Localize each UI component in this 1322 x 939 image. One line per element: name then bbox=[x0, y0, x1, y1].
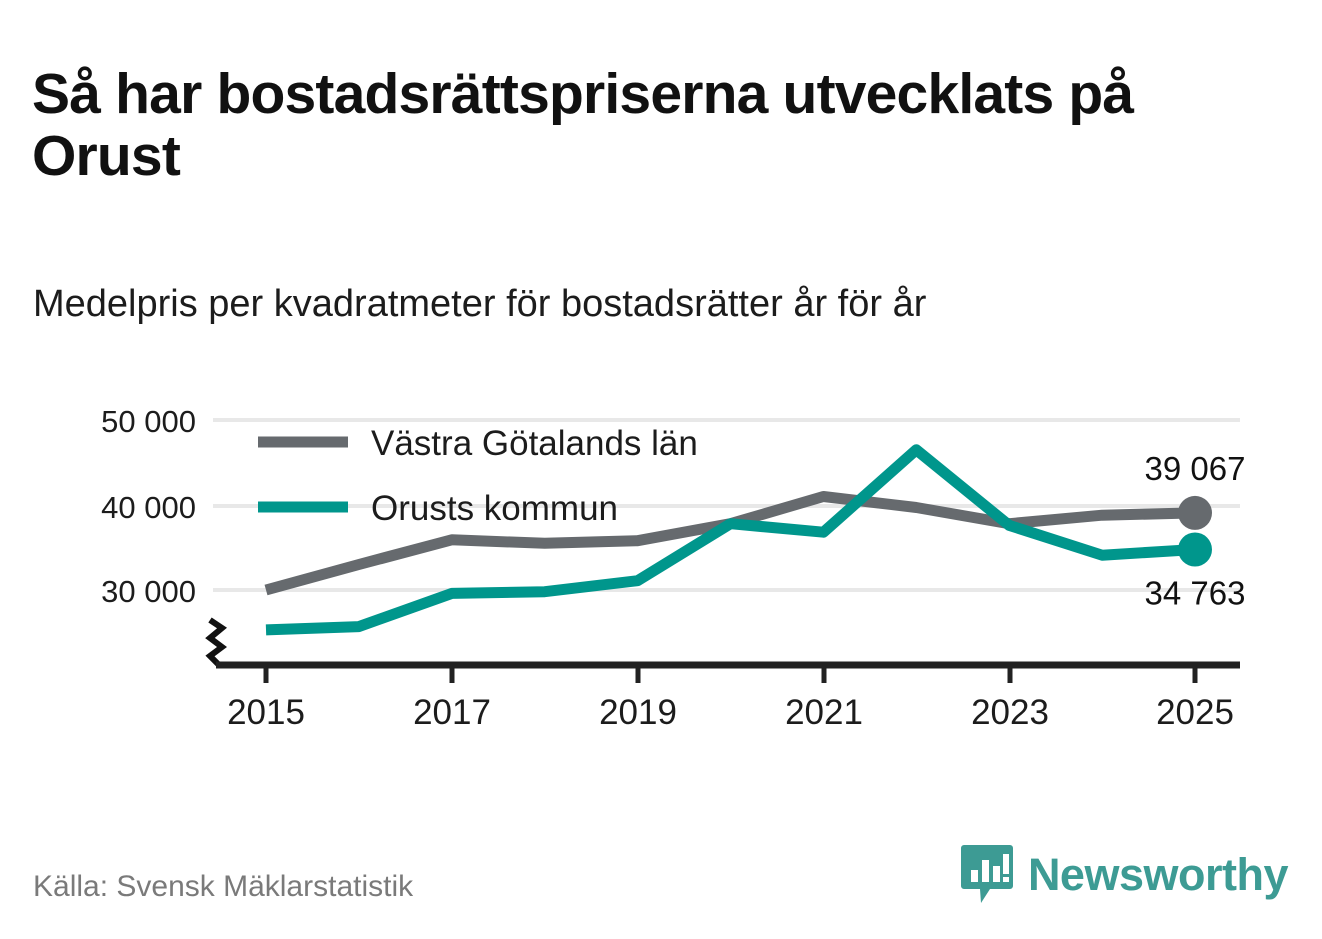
axis-break-zigzag bbox=[210, 620, 222, 664]
legend-label-orusts-kommun: Orusts kommun bbox=[371, 489, 618, 528]
legend-label-vastra-gotalands-lan: Västra Götalands län bbox=[371, 424, 698, 463]
source-note: Källa: Svensk Mäklarstatistik bbox=[33, 870, 413, 904]
chart-subtitle: Medelpris per kvadratmeter för bostadsrä… bbox=[33, 283, 1283, 327]
end-value-label-orusts-kommun: 34 763 bbox=[1145, 575, 1246, 612]
bar-4 bbox=[1003, 854, 1009, 874]
chart-page: Så har bostadsrättspriserna utvecklats p… bbox=[0, 0, 1322, 939]
line-chart: 50 000 40 000 30 000 2015 bbox=[0, 380, 1322, 740]
series-endpoint-marker-vastra-gotalands-lan bbox=[1178, 496, 1212, 530]
chart-legend: Västra Götalands län Orusts kommun bbox=[258, 424, 698, 528]
x-tick-label-2017: 2017 bbox=[413, 693, 491, 732]
bar-1 bbox=[971, 870, 978, 882]
y-tick-label-30000: 30 000 bbox=[101, 574, 196, 609]
bar-2 bbox=[982, 860, 989, 882]
axis-break-icon bbox=[210, 620, 222, 664]
series-line-orusts-kommun bbox=[266, 450, 1195, 630]
y-tick-label-50000: 50 000 bbox=[101, 404, 196, 439]
page-title: Så har bostadsrättspriserna utvecklats p… bbox=[32, 64, 1282, 187]
x-tick-label-2019: 2019 bbox=[599, 693, 677, 732]
brand-name: Newsworthy bbox=[1028, 852, 1288, 897]
bar-chart-speech-bubble-icon bbox=[960, 843, 1014, 905]
x-tick-label-2015: 2015 bbox=[227, 693, 305, 732]
series-endpoint-marker-orusts-kommun bbox=[1178, 533, 1212, 567]
x-axis-labels: 2015 2017 2019 2021 2023 2025 bbox=[227, 693, 1234, 732]
series-lines bbox=[266, 450, 1212, 630]
chart-svg: 50 000 40 000 30 000 2015 bbox=[0, 380, 1322, 740]
bar-3 bbox=[993, 866, 1000, 882]
x-tick-label-2021: 2021 bbox=[785, 693, 863, 732]
x-tick-label-2025: 2025 bbox=[1156, 693, 1234, 732]
newsworthy-logo: Newsworthy bbox=[960, 843, 1288, 905]
y-axis-labels: 50 000 40 000 30 000 bbox=[101, 404, 196, 609]
x-tick-label-2023: 2023 bbox=[971, 693, 1049, 732]
y-tick-label-40000: 40 000 bbox=[101, 490, 196, 525]
series-end-labels: 39 067 34 763 bbox=[1145, 450, 1246, 612]
bar-4-dot bbox=[1003, 877, 1009, 882]
end-value-label-vastra-gotalands-lan: 39 067 bbox=[1145, 450, 1246, 487]
